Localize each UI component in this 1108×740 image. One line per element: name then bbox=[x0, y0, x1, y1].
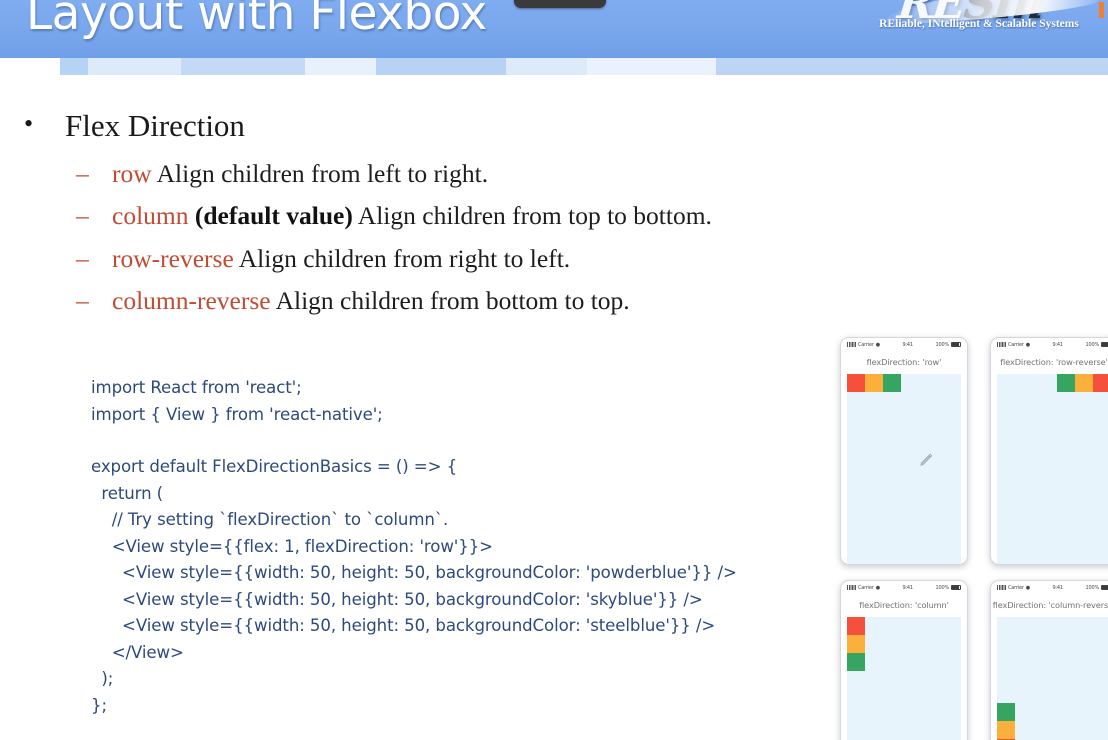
logo-accent-bar bbox=[1099, 2, 1104, 18]
status-time: 9:41 bbox=[1052, 585, 1062, 591]
status-battery-group: 100% bbox=[1086, 585, 1108, 591]
band-block bbox=[88, 58, 181, 75]
status-carrier-group: Carrier● bbox=[847, 585, 880, 591]
band-block bbox=[506, 58, 587, 75]
band-block bbox=[716, 58, 1108, 75]
video-control-bar[interactable] bbox=[514, 0, 606, 8]
flex-demo-square bbox=[1057, 374, 1075, 392]
phone-status-bar: Carrier●9:41100% bbox=[841, 338, 967, 351]
battery-icon bbox=[1101, 585, 1108, 590]
signal-bars-icon bbox=[997, 585, 1006, 590]
phone-row: Carrier●9:41100%flexDirection: 'row' bbox=[840, 337, 968, 565]
phone-caption: flexDirection: 'column' bbox=[841, 594, 967, 617]
flex-demo-square bbox=[847, 617, 865, 635]
presentation-slide: Layout with Flexbox RESIn REliable, INte… bbox=[0, 0, 1108, 740]
flex-keyword: row-reverse bbox=[112, 244, 234, 273]
phone-caption: flexDirection: 'row-reverse' bbox=[991, 351, 1108, 374]
default-value-note: (default value) bbox=[195, 201, 353, 230]
carrier-label: Carrier bbox=[858, 585, 874, 591]
sub-bullet-row: – column (default value) Align children … bbox=[0, 201, 830, 232]
sub-bullet-row: – row Align children from left to right. bbox=[0, 159, 830, 190]
flex-demo-square bbox=[997, 721, 1015, 739]
status-carrier-group: Carrier● bbox=[847, 342, 880, 348]
battery-icon bbox=[951, 585, 961, 590]
flex-keyword: row bbox=[112, 159, 152, 188]
wifi-icon: ● bbox=[876, 585, 880, 591]
bullet-dot-icon: • bbox=[24, 109, 33, 140]
code-line: }; bbox=[91, 693, 737, 720]
flex-demo-square bbox=[883, 374, 901, 392]
status-carrier-group: Carrier● bbox=[997, 342, 1030, 348]
code-sample: import React from 'react';import { View … bbox=[91, 375, 737, 719]
code-line: <View style={{width: 50, height: 50, bac… bbox=[91, 613, 737, 640]
bullet-level1-label: Flex Direction bbox=[65, 108, 245, 143]
code-line: <View style={{flex: 1, flexDirection: 'r… bbox=[91, 534, 737, 561]
decorative-block-band bbox=[0, 58, 1108, 75]
sub-bullet-text: Align children from right to left. bbox=[239, 244, 570, 273]
logo-tagline: REliable, INtelligent & Scalable Systems bbox=[854, 18, 1104, 30]
sub-bullet-text: Align children from left to right. bbox=[157, 159, 488, 188]
code-line: <View style={{width: 50, height: 50, bac… bbox=[91, 560, 737, 587]
carrier-label: Carrier bbox=[1008, 342, 1024, 348]
code-line: import React from 'react'; bbox=[91, 375, 737, 402]
code-line: // Try setting `flexDirection` to `colum… bbox=[91, 507, 737, 534]
code-line: ); bbox=[91, 666, 737, 693]
flex-demo-square bbox=[1093, 374, 1108, 392]
band-block bbox=[305, 58, 376, 75]
flex-demo-square bbox=[847, 635, 865, 653]
battery-percent-label: 100% bbox=[936, 585, 950, 591]
status-carrier-group: Carrier● bbox=[997, 585, 1030, 591]
band-block bbox=[60, 58, 88, 75]
status-battery-group: 100% bbox=[1086, 342, 1108, 348]
signal-bars-icon bbox=[847, 342, 856, 347]
phone-caption: flexDirection: 'row' bbox=[841, 351, 967, 374]
sub-bullet-row: – row-reverse Align children from right … bbox=[0, 244, 830, 275]
page-title: Layout with Flexbox bbox=[26, 0, 487, 41]
dash-bullet-icon: – bbox=[76, 159, 89, 190]
flex-demo-canvas bbox=[997, 374, 1108, 564]
wifi-icon: ● bbox=[1026, 585, 1030, 591]
phone-column-reverse: Carrier●9:41100%flexDirection: 'column-r… bbox=[990, 580, 1108, 740]
wifi-icon: ● bbox=[1026, 342, 1030, 348]
phone-status-bar: Carrier●9:41100% bbox=[991, 581, 1108, 594]
status-battery-group: 100% bbox=[936, 585, 962, 591]
phone-status-bar: Carrier●9:41100% bbox=[991, 338, 1108, 351]
slide-body: • Flex Direction – row Align children fr… bbox=[0, 108, 830, 317]
flex-demo-canvas bbox=[997, 617, 1108, 740]
phone-column: Carrier●9:41100%flexDirection: 'column' bbox=[840, 580, 968, 740]
band-block bbox=[0, 58, 60, 75]
flex-demo-square bbox=[1075, 374, 1093, 392]
bullet-level1: • Flex Direction bbox=[0, 108, 830, 145]
battery-icon bbox=[1101, 342, 1108, 347]
wifi-icon: ● bbox=[876, 342, 880, 348]
pencil-cursor-icon bbox=[919, 452, 934, 467]
status-time: 9:41 bbox=[1052, 342, 1062, 348]
sub-bullet-row: – column-reverse Align children from bot… bbox=[0, 286, 830, 317]
phone-status-bar: Carrier●9:41100% bbox=[841, 581, 967, 594]
signal-bars-icon bbox=[847, 585, 856, 590]
battery-percent-label: 100% bbox=[1086, 342, 1100, 348]
band-block bbox=[587, 58, 716, 75]
signal-bars-icon bbox=[997, 342, 1006, 347]
sub-bullet-text: Align children from top to bottom. bbox=[358, 201, 712, 230]
flex-keyword: column-reverse bbox=[112, 286, 271, 315]
battery-percent-label: 100% bbox=[936, 342, 950, 348]
code-line: return ( bbox=[91, 481, 737, 508]
dash-bullet-icon: – bbox=[76, 244, 89, 275]
dash-bullet-icon: – bbox=[76, 286, 89, 317]
flex-demo-square bbox=[847, 374, 865, 392]
flex-demo-square bbox=[865, 374, 883, 392]
battery-percent-label: 100% bbox=[1086, 585, 1100, 591]
band-block bbox=[181, 58, 305, 75]
organization-logo: RESIn REliable, INtelligent & Scalable S… bbox=[854, 0, 1104, 54]
status-time: 9:41 bbox=[902, 342, 912, 348]
flex-keyword: column bbox=[112, 201, 189, 230]
code-line: <View style={{width: 50, height: 50, bac… bbox=[91, 587, 737, 614]
phone-row-reverse: Carrier●9:41100%flexDirection: 'row-reve… bbox=[990, 337, 1108, 565]
sub-bullet-text: Align children from bottom to top. bbox=[276, 286, 630, 315]
code-line: import { View } from 'react-native'; bbox=[91, 402, 737, 429]
dash-bullet-icon: – bbox=[76, 201, 89, 232]
slide-header: Layout with Flexbox RESIn REliable, INte… bbox=[0, 0, 1108, 58]
code-line-blank bbox=[91, 428, 737, 454]
carrier-label: Carrier bbox=[1008, 585, 1024, 591]
code-line: export default FlexDirectionBasics = () … bbox=[91, 454, 737, 481]
flex-demo-canvas bbox=[847, 374, 961, 564]
battery-icon bbox=[951, 342, 961, 347]
status-battery-group: 100% bbox=[936, 342, 962, 348]
flex-demo-canvas bbox=[847, 617, 961, 740]
band-block bbox=[376, 58, 506, 75]
flex-demo-square bbox=[847, 653, 865, 671]
status-time: 9:41 bbox=[902, 585, 912, 591]
carrier-label: Carrier bbox=[858, 342, 874, 348]
code-line: </View> bbox=[91, 640, 737, 667]
phone-caption: flexDirection: 'column-reverse' bbox=[991, 594, 1108, 617]
flex-demo-square bbox=[997, 703, 1015, 721]
